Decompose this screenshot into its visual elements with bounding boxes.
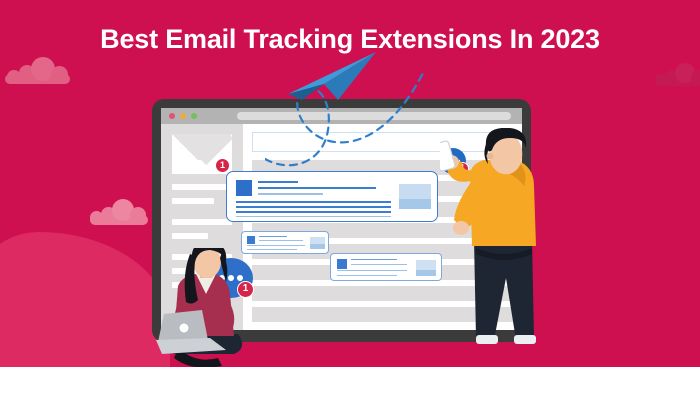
sidebar-placeholder-bar xyxy=(172,198,214,204)
card-line xyxy=(258,193,323,195)
envelope-icon xyxy=(399,184,431,209)
card-line xyxy=(259,240,303,241)
title-part-1: Best xyxy=(100,24,165,54)
card-line xyxy=(236,216,391,217)
title-part-3: In 2023 xyxy=(502,24,599,54)
cloud-top-left-icon xyxy=(5,58,70,84)
card-line xyxy=(337,275,397,276)
card-line xyxy=(236,201,391,203)
avatar xyxy=(247,236,255,244)
card-line xyxy=(258,187,376,189)
card-line xyxy=(351,264,407,265)
cloud-top-right-icon xyxy=(655,64,700,86)
bottom-strip xyxy=(0,367,700,400)
mail-card-tertiary[interactable] xyxy=(330,253,442,281)
card-line xyxy=(351,259,397,260)
sidebar-placeholder-bar xyxy=(172,233,208,239)
card-line xyxy=(247,245,305,246)
card-line xyxy=(337,270,407,271)
minimize-button-dot[interactable] xyxy=(180,113,186,119)
woman-with-laptop xyxy=(152,248,272,368)
man-holding-phone xyxy=(440,128,550,368)
envelope-icon xyxy=(416,260,436,276)
inbox-badge: 1 xyxy=(215,158,230,173)
avatar xyxy=(236,180,252,196)
paper-plane-icon xyxy=(280,50,380,120)
envelope-icon xyxy=(310,237,325,249)
card-line xyxy=(236,211,391,213)
card-line xyxy=(236,206,391,208)
sidebar-placeholder-bar xyxy=(172,184,232,190)
close-button-dot[interactable] xyxy=(169,113,175,119)
maximize-button-dot[interactable] xyxy=(191,113,197,119)
mail-card-primary[interactable] xyxy=(226,171,438,222)
card-line xyxy=(258,181,298,183)
banner-image: Best Email Tracking Extensions In 2023 xyxy=(0,0,700,400)
avatar xyxy=(337,259,347,269)
card-line xyxy=(259,236,287,237)
cloud-mid-left-icon xyxy=(90,200,148,225)
sidebar-placeholder-bar xyxy=(172,219,232,225)
